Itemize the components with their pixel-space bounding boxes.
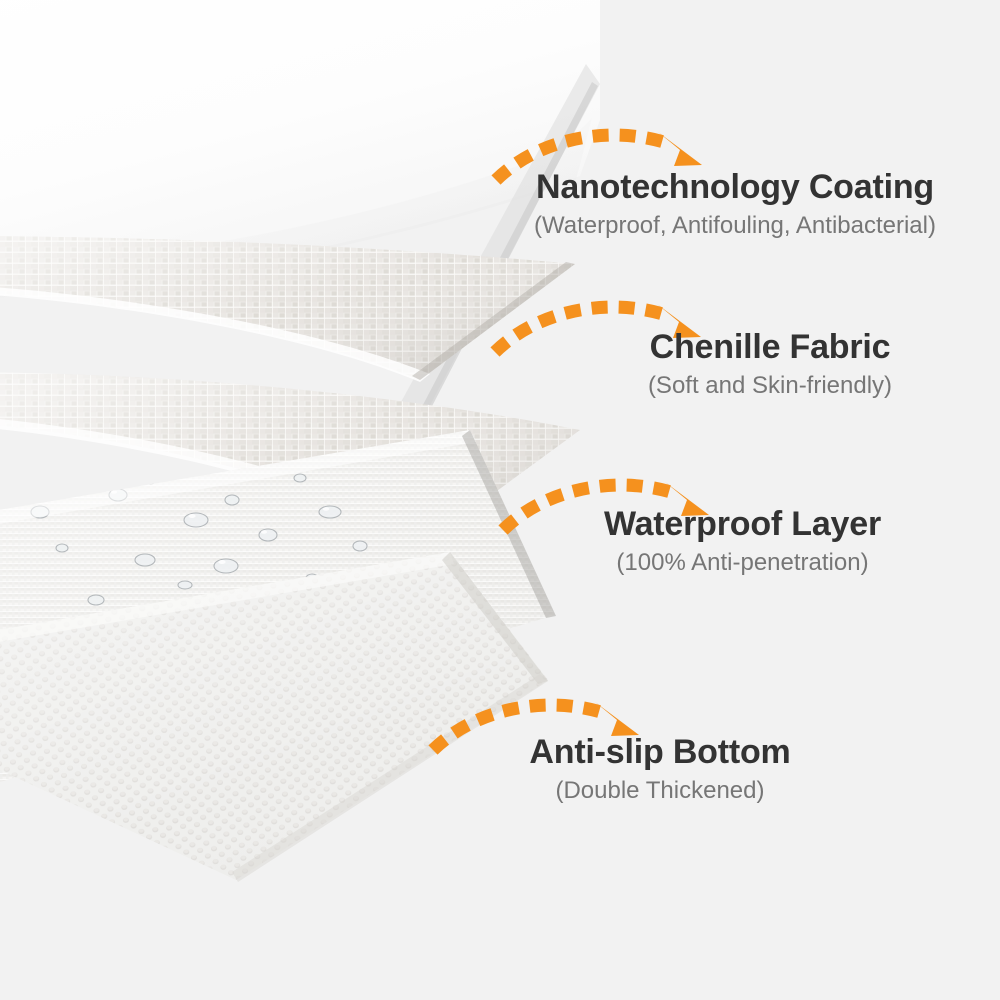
callout-title: Chenille Fabric	[560, 328, 980, 366]
callout-anti-slip-bottom: Anti-slip Bottom (Double Thickened)	[440, 733, 880, 806]
callout-waterproof-layer: Waterproof Layer (100% Anti-penetration)	[530, 505, 955, 578]
callout-subtitle: (100% Anti-penetration)	[530, 549, 955, 578]
callout-title: Anti-slip Bottom	[440, 733, 880, 771]
callout-title: Waterproof Layer	[530, 505, 955, 543]
product-layer-illustration	[0, 0, 640, 1000]
callout-title: Nanotechnology Coating	[470, 168, 1000, 206]
infographic-canvas: Nanotechnology Coating (Waterproof, Anti…	[0, 0, 1000, 1000]
callout-chenille-fabric: Chenille Fabric (Soft and Skin-friendly)	[560, 328, 980, 401]
callout-subtitle: (Double Thickened)	[440, 777, 880, 806]
callout-nanotechnology-coating: Nanotechnology Coating (Waterproof, Anti…	[470, 168, 1000, 241]
callout-subtitle: (Waterproof, Antifouling, Antibacterial)	[470, 212, 1000, 241]
callout-subtitle: (Soft and Skin-friendly)	[560, 372, 980, 401]
